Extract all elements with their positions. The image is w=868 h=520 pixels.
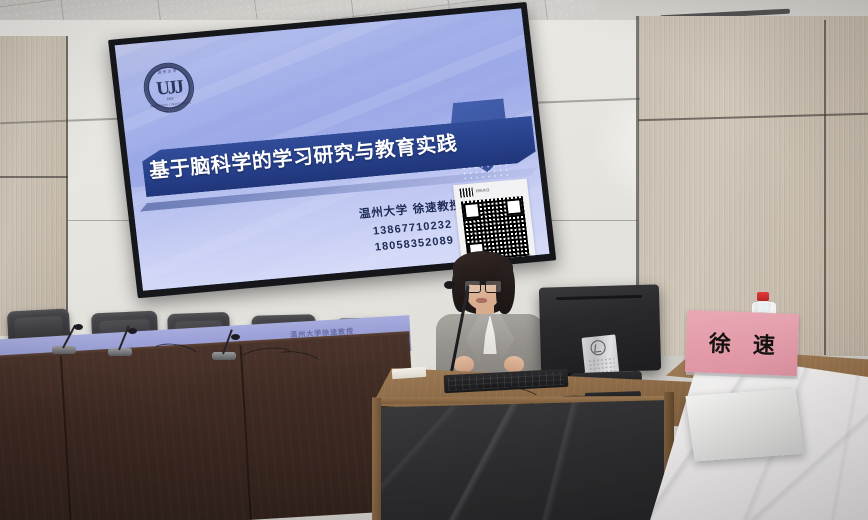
presenter-hand-left — [454, 356, 474, 372]
eyeglasses-icon — [464, 280, 502, 291]
table-microphone — [52, 318, 78, 354]
lecture-room-photo: 温 州 大 学 UJJ 1933 WENZHOU UNIVERSITY 基于脑科… — [0, 0, 868, 520]
dell-logo-icon — [590, 339, 606, 355]
presenter-mouth — [476, 298, 487, 303]
table-microphone — [212, 328, 238, 360]
bottle-cap — [757, 292, 769, 301]
qr-finder-tl — [463, 202, 481, 219]
wood-panel-seam-left-h — [0, 176, 68, 178]
mic-head-icon — [74, 324, 83, 330]
mic-head-icon — [128, 328, 137, 334]
lectern-marble-veins — [372, 400, 672, 520]
wood-panel-seam-left — [66, 36, 68, 336]
screen-display-area: 温 州 大 学 UJJ 1933 WENZHOU UNIVERSITY 基于脑科… — [115, 8, 550, 290]
placard-char-2: 速 — [752, 327, 775, 360]
qr-finder-tr — [505, 198, 523, 215]
qr-brand-icon — [459, 188, 473, 198]
placard-char-1: 徐 — [708, 326, 731, 359]
presenter-hand-right — [504, 356, 524, 372]
wood-wall-panel-left — [0, 36, 68, 336]
monitor-vent — [556, 295, 642, 300]
glasses-lens-right — [485, 280, 502, 293]
table-microphone — [108, 322, 134, 356]
seal-arc-top: 温 州 大 学 — [143, 68, 191, 77]
qr-label: 扫码关注 — [475, 187, 489, 193]
speaker-name-placard: 徐 速 — [685, 310, 799, 376]
wood-panel-seam-right-v2 — [824, 20, 826, 355]
lectern-microphone — [448, 284, 452, 382]
conference-table-front — [0, 335, 420, 520]
bottle-neck — [758, 300, 768, 312]
laptop-lid — [685, 388, 804, 461]
lectern-front-panel — [372, 400, 672, 520]
table-wood-grain — [0, 335, 420, 520]
mic-head-icon — [231, 334, 240, 340]
mic-stem — [222, 329, 233, 354]
lectern-mic-head-icon — [444, 281, 455, 289]
lectern-left-trim — [372, 398, 381, 520]
